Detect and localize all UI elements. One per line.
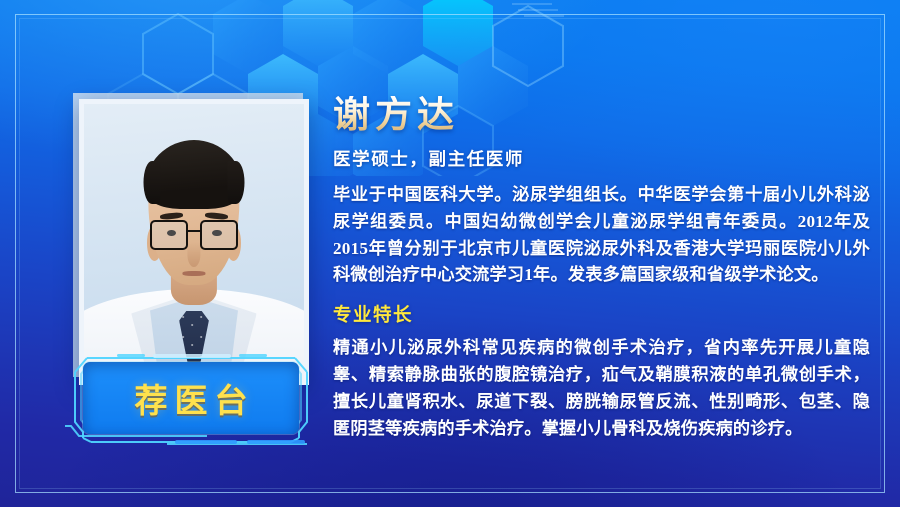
portrait-photo <box>84 104 304 380</box>
specialty-heading: 专业特长 <box>333 301 870 327</box>
specialty-description: 精通小儿泌尿外科常见疾病的微创手术治疗，省内率先开展儿童隐睾、精索静脉曲张的腹腔… <box>333 335 870 442</box>
recommend-badge-label: 荐医台 <box>128 374 255 422</box>
doctor-biography: 毕业于中国医科大学。泌尿学组组长。中华医学会第十届小儿外科泌尿学组委员。中国妇幼… <box>333 182 870 289</box>
doctor-title: 医学硕士，副主任医师 <box>333 146 870 171</box>
recommend-badge-plate[interactable]: 荐医台 <box>83 362 299 434</box>
doctor-name: 谢方达 <box>333 96 459 133</box>
doctor-profile-card: 荐医台 谢方达 医学硕士，副主任医师 毕业于中国医科大学。泌尿学组组长。中华医学… <box>0 0 900 507</box>
portrait-frame <box>79 99 309 385</box>
recommend-badge[interactable]: 荐医台 <box>57 352 325 448</box>
doctor-info-panel: 谢方达 医学硕士，副主任医师 毕业于中国医科大学。泌尿学组组长。中华医学会第十届… <box>333 96 870 443</box>
eyeglasses-icon <box>150 220 238 250</box>
